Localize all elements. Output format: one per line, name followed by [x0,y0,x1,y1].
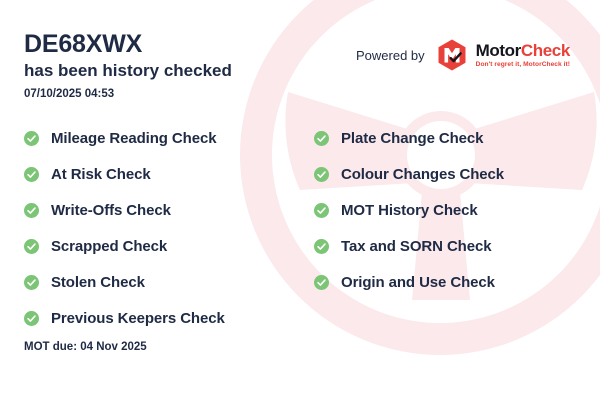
check-item: Scrapped Check [24,228,314,264]
wordmark-motor: Motor [476,41,521,60]
wordmark-text: MotorCheck [476,42,570,59]
check-item-label: Scrapped Check [51,238,167,255]
check-item: Tax and SORN Check [314,228,580,264]
check-item-label: Stolen Check [51,274,145,291]
check-item: Plate Change Check [314,120,580,156]
report-timestamp: 07/10/2025 04:53 [24,88,232,100]
check-item: MOT History Check [314,192,580,228]
powered-by-branding: Powered by MotorCheck Don't regret it, M… [356,38,570,72]
green-circle-check-icon [24,203,39,218]
vehicle-history-check-card: DE68XWX has been history checked 07/10/2… [0,0,600,400]
green-circle-check-icon [314,131,329,146]
green-circle-check-icon [24,275,39,290]
check-item: Write-Offs Check [24,192,314,228]
check-item-label: Plate Change Check [341,130,483,147]
green-circle-check-icon [314,203,329,218]
motorcheck-wordmark: MotorCheck Don't regret it, MotorCheck i… [476,42,570,69]
mot-due-text: MOT due: 04 Nov 2025 [24,341,147,353]
check-item-label: Mileage Reading Check [51,130,216,147]
wordmark-check: Check [521,41,570,60]
check-item-label: Write-Offs Check [51,202,171,219]
check-item: Origin and Use Check [314,264,580,300]
green-circle-check-icon [24,167,39,182]
check-item-label: Tax and SORN Check [341,238,491,255]
check-item: Mileage Reading Check [24,120,314,156]
check-item-label: Origin and Use Check [341,274,495,291]
green-circle-check-icon [314,167,329,182]
check-item-label: Previous Keepers Check [51,310,225,327]
green-circle-check-icon [24,131,39,146]
check-item: Stolen Check [24,264,314,300]
checks-section: Mileage Reading Check At Risk Check Writ… [24,120,580,336]
checks-right-column: Plate Change Check Colour Changes Check … [314,120,580,336]
check-item: Colour Changes Check [314,156,580,192]
header: DE68XWX has been history checked 07/10/2… [24,30,232,100]
check-item: At Risk Check [24,156,314,192]
check-item: Previous Keepers Check [24,300,314,336]
powered-by-label: Powered by [356,48,425,63]
brand-tagline: Don't regret it, MotorCheck it! [476,62,570,69]
registration-plate-title: DE68XWX [24,30,232,58]
motorcheck-hexagon-logo-icon [435,38,469,72]
checks-left-column: Mileage Reading Check At Risk Check Writ… [24,120,314,336]
header-subtitle: has been history checked [24,60,232,81]
green-circle-check-icon [24,311,39,326]
green-circle-check-icon [314,275,329,290]
green-circle-check-icon [24,239,39,254]
green-circle-check-icon [314,239,329,254]
check-item-label: Colour Changes Check [341,166,504,183]
check-item-label: At Risk Check [51,166,151,183]
check-item-label: MOT History Check [341,202,478,219]
